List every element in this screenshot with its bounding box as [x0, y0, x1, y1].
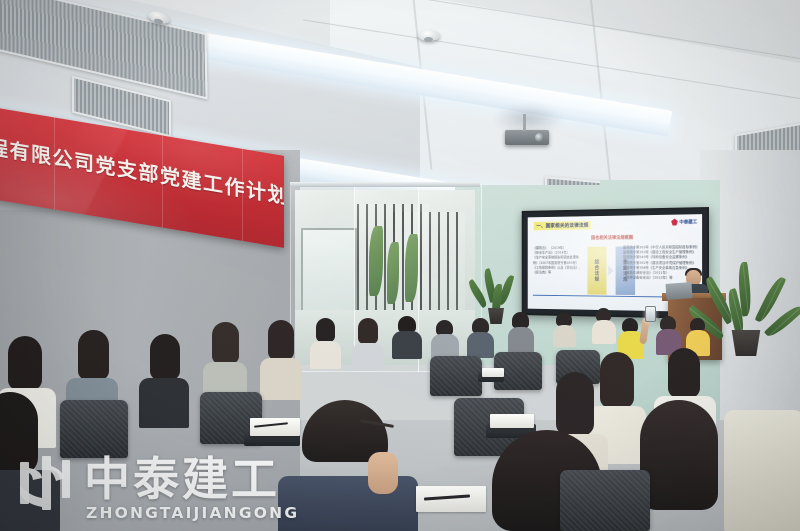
plant-pot: [729, 330, 763, 356]
presenter-laptop: [665, 282, 692, 300]
slide-logo: 中泰建工: [671, 218, 697, 225]
chair[interactable]: [560, 470, 650, 531]
potted-plant-large: [718, 262, 778, 358]
glass-header-rail: [290, 182, 480, 187]
slide-diagram-bar-left: 综合法规: [587, 247, 606, 295]
slide-left-column: 《建筑法》 （2019年） 《安全生产法》（2014年） 《生产安全事故报告和调…: [533, 246, 582, 276]
potted-plant-small: [478, 268, 512, 326]
notepad: [482, 368, 504, 377]
projector-lens-icon: [535, 133, 544, 142]
notepad: [490, 414, 534, 428]
slide-law-line: 国务院令第549号《特种设备安全监察条例》: [623, 255, 697, 260]
slide-diagram-arrow-icon: [606, 247, 615, 295]
attendee-hand: [368, 452, 398, 494]
slide-law-line: 《民法典》等: [533, 270, 582, 275]
slide-title-band: 一、国家相关的法律法规: [534, 221, 592, 230]
chair[interactable]: [430, 356, 482, 396]
slide-law-line: 《生产安全事故报告和调查处理条: [533, 256, 582, 261]
slide-diagram-bar-left-label: 综合法规: [594, 259, 600, 282]
slide-subtitle: 国也相关法律法规框图: [528, 234, 702, 241]
meeting-room-photo: 程有限公司党支部党建工作计划及学习 一、国家相关的法律法规: [0, 0, 800, 531]
smoke-detector-icon: [418, 30, 440, 41]
chair[interactable]: [60, 400, 128, 458]
slide-title: 一、国家相关的法律法规: [536, 222, 588, 229]
slide-logo-text: 中泰建工: [679, 219, 697, 225]
company-logo-icon: [671, 219, 678, 226]
ceiling-projector: [505, 130, 549, 150]
smartphone-icon[interactable]: [645, 306, 656, 322]
